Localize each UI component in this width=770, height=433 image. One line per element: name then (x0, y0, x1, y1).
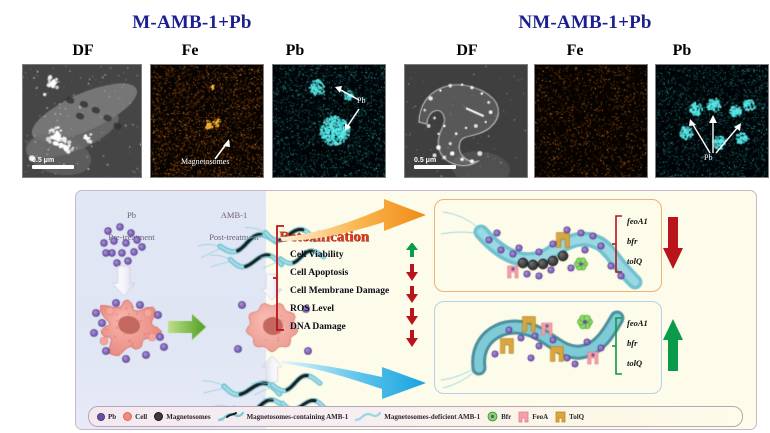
bacteria-deficient-icon (355, 410, 381, 423)
micrograph-df-left: 0.5 μm (22, 64, 142, 178)
gene-label-top-1: bfr (627, 236, 637, 246)
group-title-left: M-AMB-1+Pb (47, 12, 337, 34)
blue-flow-arrow (276, 359, 436, 403)
micrograph-fe-right (534, 64, 648, 178)
effect-direction-arrows (403, 243, 421, 347)
pb-dot-icon (97, 413, 105, 421)
gene-bracket-top (611, 213, 625, 275)
legend-item-bfr: Bfr (487, 411, 511, 422)
legend-item-magnetosomes: Magnetosomes (154, 412, 210, 421)
annotation-pb-left: Pb (357, 96, 365, 105)
legend-label: Magnetosomes-deficient AMB-1 (384, 413, 480, 421)
panel-label-df-right: DF (422, 42, 512, 60)
bacteria-illustration-bottom (435, 302, 663, 395)
legend-label: Bfr (501, 413, 511, 421)
gene-regulation-arrow-bottom (662, 317, 684, 373)
scalebar-label-right-df: 0.5 μm (414, 157, 436, 164)
annotation-pb-right: Pb (704, 153, 712, 162)
tolq-icon (555, 411, 566, 423)
panel-label-pb-right: Pb (637, 42, 727, 60)
legend-item-magnetosome-containing-amb1: Magnetosomes-containing AMB-1 (218, 410, 349, 423)
micrograph-df-right: 0.5 μm (404, 64, 528, 178)
legend-label: TolQ (569, 413, 584, 421)
scalebar-right-df (414, 165, 456, 169)
panel-label-pb-left: Pb (250, 42, 340, 60)
effect-label-4: DNA Damage (290, 322, 346, 332)
legend-label: Magnetosomes (166, 413, 210, 421)
panel-label-df-left: DF (38, 42, 128, 60)
legend-item-tolq: TolQ (555, 411, 584, 423)
gene-label-bottom-2: tolQ (627, 358, 642, 368)
legend-item-pb: Pb (97, 413, 116, 421)
bfr-icon (487, 411, 498, 422)
gene-label-bottom-1: bfr (627, 338, 637, 348)
legend-label: Cell (135, 413, 147, 421)
micrograph-pb-left: Pb (272, 64, 386, 178)
arrow-pb-left (273, 65, 386, 178)
gene-label-bottom-0: feoA1 (627, 318, 648, 328)
bacteria-magnetosome-icon (218, 410, 244, 423)
panel-label-fe-right: Fe (530, 42, 620, 60)
effect-label-0: Cell Viability (290, 250, 344, 260)
gene-regulation-arrow-top (662, 215, 684, 271)
gene-bracket-bottom (611, 315, 625, 377)
orange-flow-arrow (276, 195, 436, 241)
group-title-right: NM-AMB-1+Pb (440, 12, 730, 34)
bacteria-illustration-top (435, 200, 663, 293)
micrograph-fe-left: Magnetosomes (150, 64, 264, 178)
scalebar-label-left-df: 0.5 μm (32, 157, 54, 164)
legend-item-cell: Cell (123, 412, 147, 421)
feoa-icon (518, 411, 529, 423)
effect-label-2: Cell Membrane Damage (290, 286, 389, 296)
scalebar-left-df (32, 165, 74, 169)
magnetosome-dot-icon (154, 412, 163, 421)
legend-item-magnetosome-deficient-amb1: Magnetosomes-deficient AMB-1 (355, 410, 480, 423)
legend-bar: Pb Cell Magnetosomes Magnetosomes-contai… (88, 406, 743, 427)
effect-label-3: ROS Level (290, 304, 334, 314)
gene-label-top-0: feoA1 (627, 216, 648, 226)
panel-label-fe-left: Fe (145, 42, 235, 60)
cell-dot-icon (123, 412, 132, 421)
legend-label: FeoA (532, 413, 548, 421)
legend-label: Magnetosomes-containing AMB-1 (247, 413, 349, 421)
effect-label-1: Cell Apoptosis (290, 268, 348, 278)
annotation-magnetosomes: Magnetosomes (181, 157, 229, 166)
legend-label: Pb (108, 413, 116, 421)
legend-item-feoa: FeoA (518, 411, 548, 423)
gene-label-top-2: tolQ (627, 256, 642, 266)
arrow-pb-right (656, 65, 769, 178)
micrograph-pb-right: Pb (655, 64, 769, 178)
schematic-panel: Pb Pre-treatment AMB-1 Post-treatment De… (75, 190, 757, 430)
